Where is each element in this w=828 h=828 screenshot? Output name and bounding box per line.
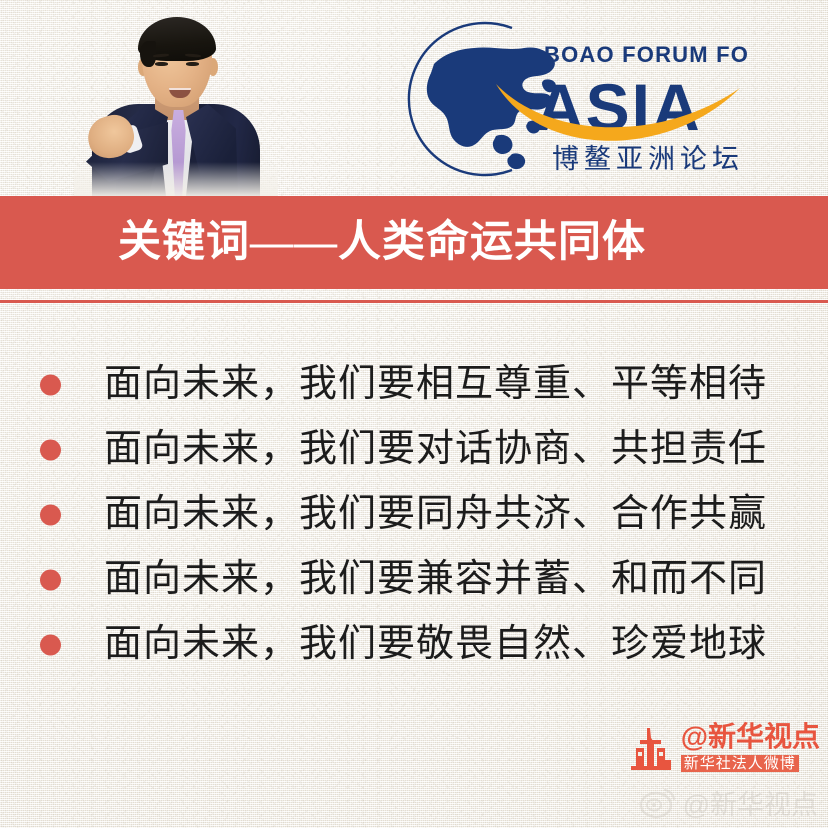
portrait-eye-right xyxy=(186,62,199,66)
bullet-dot-icon xyxy=(40,569,61,590)
list-item: 面向未来，我们要对话协商、共担责任 xyxy=(0,417,828,482)
list-item-label: 面向未来，我们要同舟共济、合作共赢 xyxy=(104,494,767,536)
list-item-label: 面向未来，我们要兼容并蓄、和而不同 xyxy=(104,559,767,601)
xinhua-subtitle: 新华社法人微博 xyxy=(681,755,799,772)
list-item-label: 面向未来，我们要敬畏自然、珍爱地球 xyxy=(104,624,767,666)
page-title: 关键词——人类命运共同体 xyxy=(118,221,646,264)
portrait-bottom-fade xyxy=(74,162,278,196)
xinhua-handle: @新华视点 xyxy=(681,723,820,751)
bullet-dot-icon xyxy=(40,374,61,395)
bullet-dot-icon xyxy=(40,504,61,525)
boao-forum-logo: BOAO FORUM FOR ASIA 博鳌亚洲论坛 xyxy=(400,18,748,180)
title-banner: 关键词——人类命运共同体 xyxy=(0,196,828,289)
bullet-dot-icon xyxy=(40,634,61,655)
list-item: 面向未来，我们要敬畏自然、珍爱地球 xyxy=(0,612,828,677)
portrait-eye-left xyxy=(155,62,168,66)
bullet-dot-icon xyxy=(40,439,61,460)
list-item: 面向未来，我们要同舟共济、合作共赢 xyxy=(0,482,828,547)
weibo-watermark: @新华视点 xyxy=(639,783,818,822)
list-item: 面向未来，我们要兼容并蓄、和而不同 xyxy=(0,547,828,612)
weibo-logo-icon xyxy=(639,787,677,819)
weibo-watermark-text: @新华视点 xyxy=(683,783,818,822)
logo-line-cn: 博鳌亚洲论坛 xyxy=(552,144,744,174)
xinhua-watermark: @新华视点 新华社法人微博 xyxy=(627,723,820,772)
list-item-label: 面向未来，我们要对话协商、共担责任 xyxy=(104,429,767,471)
list-item: 面向未来，我们要相互尊重、平等相待 xyxy=(0,352,828,417)
logo-line-en-top: BOAO FORUM FOR xyxy=(544,42,748,67)
xinhua-logo-icon xyxy=(627,726,675,770)
speaker-portrait xyxy=(86,0,266,196)
banner-divider-rule xyxy=(0,300,828,303)
poster-canvas: BOAO FORUM FOR ASIA 博鳌亚洲论坛 关键词——人类命运共同体 … xyxy=(0,0,828,828)
xinhua-watermark-text: @新华视点 新华社法人微博 xyxy=(681,723,820,772)
list-item-label: 面向未来，我们要相互尊重、平等相待 xyxy=(104,364,767,406)
keypoint-list: 面向未来，我们要相互尊重、平等相待 面向未来，我们要对话协商、共担责任 面向未来… xyxy=(0,352,828,677)
portrait-hair xyxy=(138,17,216,61)
